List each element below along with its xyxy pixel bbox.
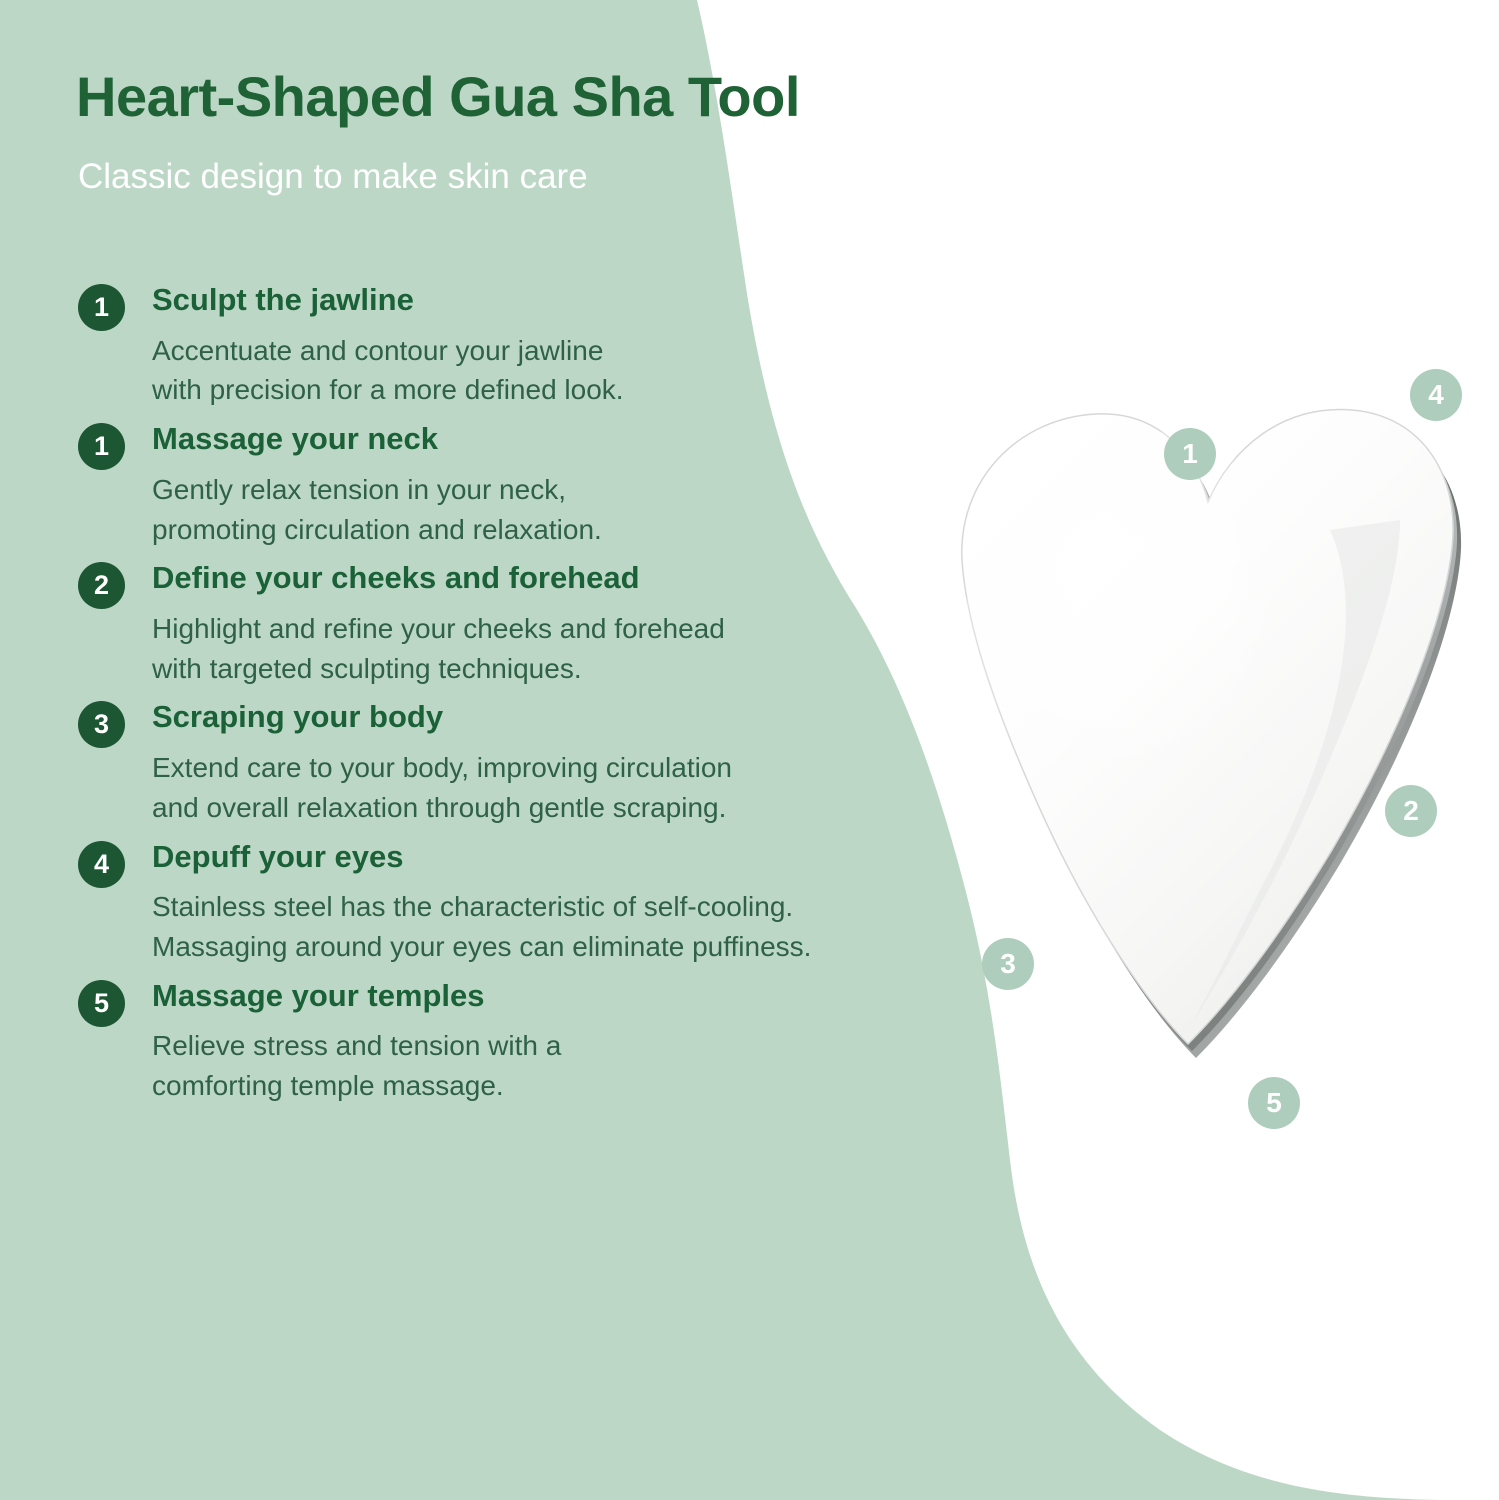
feature-heading: Sculpt the jawline bbox=[152, 282, 930, 318]
list-item: 2 Define your cheeks and forehead Highli… bbox=[0, 560, 930, 688]
list-item: 4 Depuff your eyes Stainless steel has t… bbox=[0, 839, 930, 967]
page-title: Heart-Shaped Gua Sha Tool bbox=[76, 64, 800, 129]
feature-description-line: Stainless steel has the characteristic o… bbox=[152, 887, 930, 927]
feature-number-badge: 1 bbox=[78, 423, 125, 470]
product-callout-2: 2 bbox=[1385, 785, 1437, 837]
list-item: 1 Sculpt the jawline Accentuate and cont… bbox=[0, 282, 930, 410]
feature-list: 1 Sculpt the jawline Accentuate and cont… bbox=[0, 282, 930, 1117]
feature-number-badge: 1 bbox=[78, 284, 125, 331]
page-subtitle: Classic design to make skin care bbox=[78, 157, 588, 197]
feature-heading: Scraping your body bbox=[152, 699, 930, 735]
product-callout-1: 1 bbox=[1164, 428, 1216, 480]
feature-description-line: with precision for a more defined look. bbox=[152, 370, 930, 410]
feature-heading: Depuff your eyes bbox=[152, 839, 930, 875]
feature-description-line: comforting temple massage. bbox=[152, 1066, 930, 1106]
text-column: Heart-Shaped Gua Sha Tool Classic design… bbox=[0, 0, 960, 1500]
list-item: 3 Scraping your body Extend care to your… bbox=[0, 699, 930, 827]
feature-description-line: promoting circulation and relaxation. bbox=[152, 510, 930, 550]
feature-description-line: and overall relaxation through gentle sc… bbox=[152, 788, 930, 828]
feature-number-badge: 4 bbox=[78, 841, 125, 888]
product-callout-4: 4 bbox=[1410, 369, 1462, 421]
feature-description-line: Highlight and refine your cheeks and for… bbox=[152, 609, 930, 649]
product-callout-5: 5 bbox=[1248, 1077, 1300, 1129]
feature-number-badge: 3 bbox=[78, 701, 125, 748]
feature-description-line: Massaging around your eyes can eliminate… bbox=[152, 927, 930, 967]
feature-description-line: Accentuate and contour your jawline bbox=[152, 331, 930, 371]
product-callout-3: 3 bbox=[982, 938, 1034, 990]
list-item: 5 Massage your temples Relieve stress an… bbox=[0, 978, 930, 1106]
feature-heading: Define your cheeks and forehead bbox=[152, 560, 930, 596]
feature-description-line: with targeted sculpting techniques. bbox=[152, 649, 930, 689]
feature-description-line: Gently relax tension in your neck, bbox=[152, 470, 930, 510]
product-infographic: Heart-Shaped Gua Sha Tool Classic design… bbox=[0, 0, 1499, 1500]
feature-heading: Massage your neck bbox=[152, 421, 930, 457]
feature-description-line: Relieve stress and tension with a bbox=[152, 1026, 930, 1066]
feature-description-line: Extend care to your body, improving circ… bbox=[152, 748, 930, 788]
list-item: 1 Massage your neck Gently relax tension… bbox=[0, 421, 930, 549]
feature-number-badge: 5 bbox=[78, 980, 125, 1027]
feature-number-badge: 2 bbox=[78, 562, 125, 609]
feature-heading: Massage your temples bbox=[152, 978, 930, 1014]
